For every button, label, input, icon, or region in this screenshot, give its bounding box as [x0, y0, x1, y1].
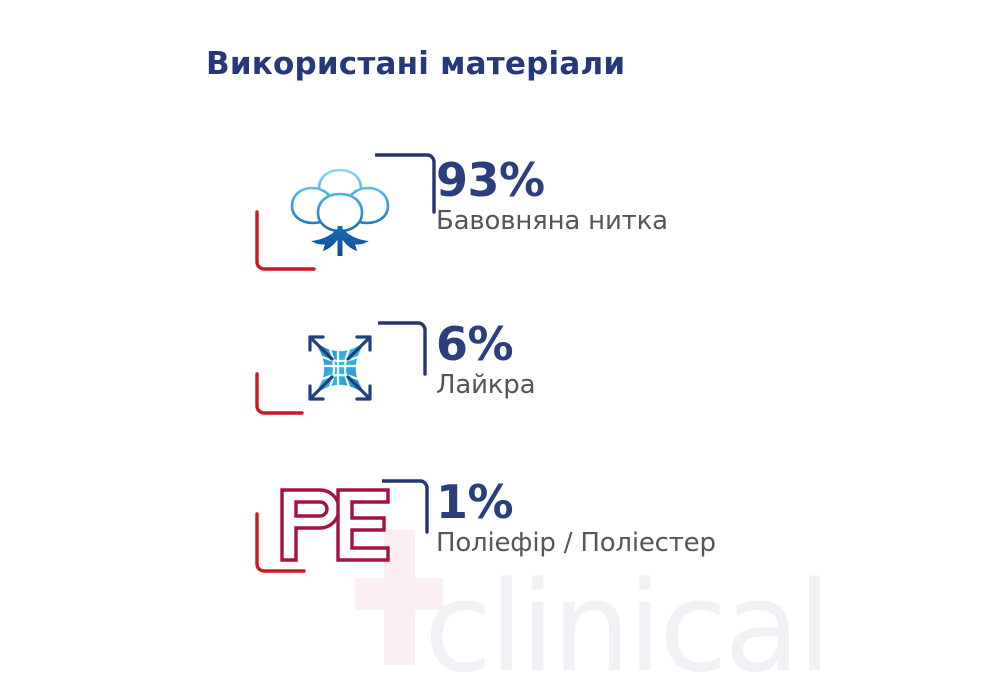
brand-watermark-text: clinical — [424, 566, 829, 690]
page-title: Використані матеріали — [206, 46, 625, 82]
material-label: Поліефір / Поліестер — [436, 528, 716, 559]
material-row-lycra: 6% Лайкра — [250, 312, 770, 422]
cotton-flower-icon — [286, 164, 394, 260]
material-percent: 6% — [436, 322, 535, 367]
material-label: Лайкра — [436, 370, 535, 401]
material-text-lycra: 6% Лайкра — [436, 322, 535, 401]
material-label: Бавовняна нитка — [436, 206, 668, 237]
material-text-cotton: 93% Бавовняна нитка — [436, 158, 668, 237]
material-percent: 93% — [436, 158, 668, 203]
cross-horizontal-bar — [355, 578, 443, 610]
material-row-cotton: 93% Бавовняна нитка — [250, 152, 770, 272]
stretch-elastane-icon — [292, 322, 388, 414]
pe-polyester-icon — [276, 486, 394, 566]
material-row-polyester: 1% Поліефір / Поліестер — [250, 472, 810, 582]
material-text-polyester: 1% Поліефір / Поліестер — [436, 480, 716, 559]
material-percent: 1% — [436, 480, 716, 525]
